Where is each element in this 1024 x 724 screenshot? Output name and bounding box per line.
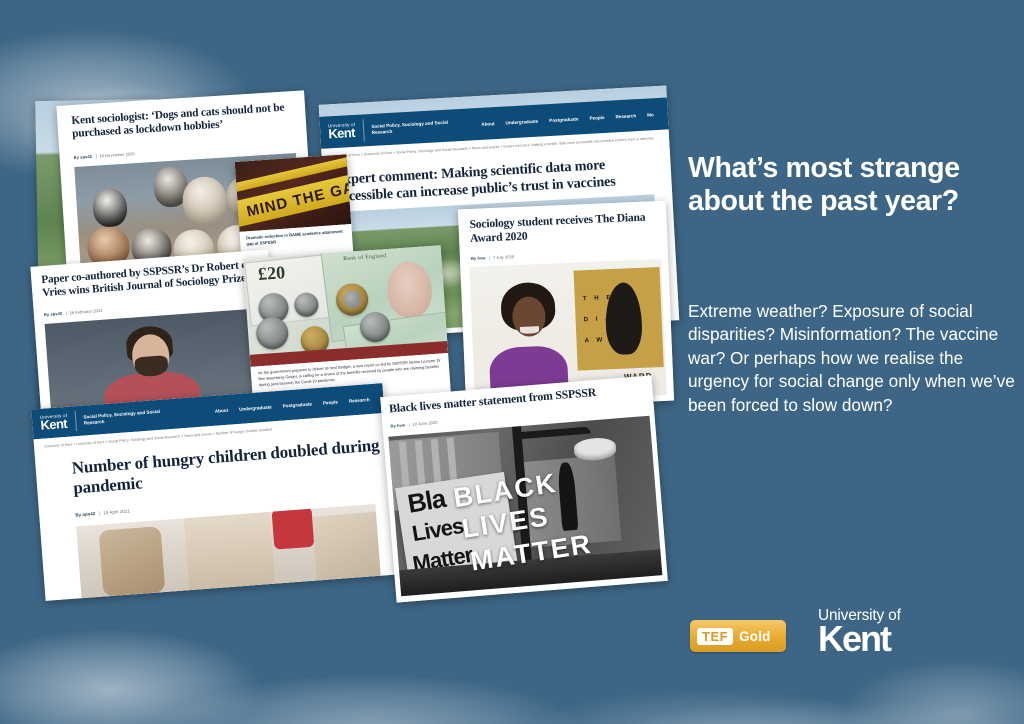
kent-logo-line2: Kent [328, 126, 356, 141]
nav-item-people[interactable]: People [589, 114, 604, 120]
nav-item-postgraduate[interactable]: Postgraduate [282, 401, 312, 408]
department-name-2: Social Policy, Sociology and Social Rese… [83, 408, 169, 426]
site-nav-2[interactable]: About Undergraduate Postgraduate People … [215, 396, 376, 413]
puppy [92, 188, 128, 228]
cloth-object [184, 512, 275, 590]
diana-award-logo: T H E D I A N A A W A R D [574, 267, 664, 371]
logo-row: TEF Gold University of Kent [686, 604, 1024, 674]
article-image-protest: Bla Lives Matter BLACK LIVES MATTER [388, 416, 662, 596]
byline-date-hungry: 15 April 2021 [103, 508, 130, 515]
nav-item-about[interactable]: About [481, 121, 495, 127]
slide-body-text: Extreme weather? Exposure of social disp… [688, 300, 1018, 417]
nav-item-research[interactable]: Research [615, 113, 636, 119]
red-object [271, 507, 314, 550]
byline-hungry-children: By aps42 | 15 April 2021 [75, 508, 130, 517]
nav-item-postgraduate[interactable]: Postgraduate [549, 116, 579, 123]
note-denomination-text: £20 [257, 262, 285, 285]
message-column: What’s most strange about the past year?… [686, 0, 1024, 724]
logo-divider [75, 411, 77, 431]
nav-item-undergraduate[interactable]: Undergraduate [239, 404, 272, 411]
article-card-bame-gap[interactable]: MIND THE GAP Dramatic reduction in BAME … [235, 154, 354, 262]
byline-date-diana: 7 July 2020 [493, 254, 515, 260]
tef-rating-text: Gold [739, 629, 771, 644]
cloud-decoration [160, 675, 580, 724]
university-logo-line2: Kent [818, 621, 901, 657]
university-of-kent-logo: University of Kent [818, 608, 901, 657]
slide-canvas: University of Kent Social Policy, Sociol… [0, 0, 1024, 724]
lamp-arm [512, 426, 590, 439]
bag-object [99, 526, 166, 596]
nav-item-research[interactable]: Research [349, 397, 370, 404]
nav-item-people[interactable]: People [323, 399, 338, 405]
table-surface [312, 512, 381, 581]
nav-item-about[interactable]: About [215, 407, 229, 413]
kent-logo-small-2: University of Kent [40, 413, 76, 432]
tef-gold-logo: TEF Gold [690, 620, 786, 652]
diana-word-the: T H E [583, 294, 614, 302]
logo-divider [363, 119, 365, 141]
article-card-hungry-children[interactable]: University of Kent Social Policy, Sociol… [31, 383, 396, 601]
article-card-black-lives-matter[interactable]: Black lives matter statement from SSPSSR… [380, 375, 668, 602]
article-image-mind-the-gap: MIND THE GAP [235, 154, 352, 232]
kent-logo-line2: Kent [40, 417, 68, 432]
nav-item-undergraduate[interactable]: Undergraduate [505, 118, 538, 125]
hungry-body-panel: University of Kent > University of Kent … [34, 413, 397, 601]
kent-logo-small: University of Kent [328, 122, 364, 140]
site-nav[interactable]: About Undergraduate Postgraduate People … [481, 111, 660, 126]
byline-author-diana: By hvw [471, 255, 486, 261]
article-image-money: £20 Bank of England [243, 245, 448, 367]
headline-hungry-children[interactable]: Number of hungry children doubled during… [71, 435, 385, 498]
article-collage: University of Kent Social Policy, Sociol… [0, 0, 690, 620]
article-image-table [76, 504, 381, 598]
placard-text-line1: Bla [405, 483, 447, 520]
department-name: Social Policy, Sociology and Social Rese… [371, 119, 457, 136]
puppy [181, 176, 228, 227]
slide-title: What’s most strange about the past year? [688, 152, 1018, 218]
nav-item-more[interactable]: Mo [647, 112, 654, 117]
cloud-decoration [0, 630, 260, 724]
byline-author-hungry: By aps42 [75, 511, 95, 517]
tef-mark-text: TEF [697, 628, 733, 645]
article-card-budget-benefits[interactable]: £20 Bank of England As the government pr… [243, 245, 451, 408]
